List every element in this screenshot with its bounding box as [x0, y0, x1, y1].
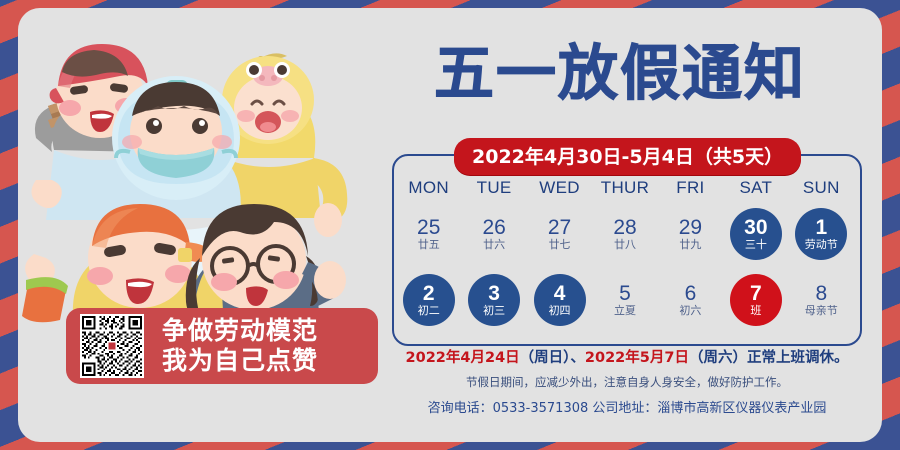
day-subtext: 母亲节 — [805, 305, 838, 317]
day-cell-holiday[interactable]: 30 三十 — [723, 204, 788, 264]
adjust-date-1: 2022年4月24日 — [406, 350, 520, 366]
day-cell-holiday[interactable]: 1 劳动节 — [789, 204, 854, 264]
day-subtext: 初二 — [418, 305, 440, 317]
adjust-date-2: 2022年5月7日 — [585, 350, 689, 366]
day-cell-workday[interactable]: 7 班 — [723, 270, 788, 330]
calendar-grid: MON TUE WED THUR FRI SAT SUN 25 廿五 26 廿六… — [396, 178, 854, 330]
day-subtext: 立夏 — [614, 305, 636, 317]
day-subtext: 廿七 — [549, 239, 571, 251]
contact-note: 咨询电话：0533-3571308 公司地址：淄博市高新区仪器仪表产业园 — [392, 397, 862, 416]
day-number: 8 — [815, 283, 827, 305]
day-subtext: 劳动节 — [805, 239, 838, 251]
page-title: 五一放假通知 — [370, 44, 870, 104]
day-number: 4 — [554, 283, 566, 305]
weekday-mon: MON — [396, 178, 461, 198]
day-cell[interactable]: 5 立夏 — [592, 270, 657, 330]
weekday-thur: THUR — [592, 178, 657, 198]
adjust-note-tail: （周六）正常上班调休。 — [689, 350, 849, 366]
day-cell[interactable]: 27 廿七 — [527, 204, 592, 264]
day-cell-holiday[interactable]: 2 初二 — [396, 270, 461, 330]
day-cell[interactable]: 26 廿六 — [461, 204, 526, 264]
weekday-sat: SAT — [723, 178, 788, 198]
day-number: 30 — [744, 217, 767, 239]
day-number: 3 — [488, 283, 500, 305]
day-cell[interactable]: 6 初六 — [658, 270, 723, 330]
poster-root: 五一放假通知 2022年4月30日-5月4日（共5天） MON TUE WED … — [0, 0, 900, 450]
slogan-line-2: 我为自己点赞 — [162, 346, 318, 377]
weekday-tue: TUE — [461, 178, 526, 198]
day-number: 29 — [679, 217, 702, 239]
day-subtext: 初六 — [679, 305, 701, 317]
day-number: 6 — [685, 283, 697, 305]
poster-card: 五一放假通知 2022年4月30日-5月4日（共5天） MON TUE WED … — [18, 8, 882, 442]
slogan-text: 争做劳动模范 我为自己点赞 — [162, 316, 318, 377]
day-subtext: 初三 — [483, 305, 505, 317]
day-subtext: 廿八 — [614, 239, 636, 251]
day-subtext: 三十 — [745, 239, 767, 251]
slogan-line-1: 争做劳动模范 — [162, 316, 318, 347]
adjust-workday-note: 2022年4月24日（周日）、2022年5月7日（周六）正常上班调休。 — [392, 346, 862, 367]
day-number: 28 — [613, 217, 636, 239]
day-number: 7 — [750, 283, 762, 305]
day-number: 1 — [815, 217, 827, 239]
day-cell[interactable]: 25 廿五 — [396, 204, 461, 264]
day-cell[interactable]: 29 廿九 — [658, 204, 723, 264]
slogan-banner: 争做劳动模范 我为自己点赞 — [66, 308, 378, 384]
day-cell-holiday[interactable]: 4 初四 — [527, 270, 592, 330]
day-cell[interactable]: 28 廿八 — [592, 204, 657, 264]
day-cell[interactable]: 8 母亲节 — [789, 270, 854, 330]
day-number: 2 — [423, 283, 435, 305]
day-number: 26 — [482, 217, 505, 239]
day-number: 27 — [548, 217, 571, 239]
day-subtext: 廿九 — [679, 239, 701, 251]
weekday-fri: FRI — [658, 178, 723, 198]
qr-code-icon[interactable] — [80, 314, 144, 378]
weekday-wed: WED — [527, 178, 592, 198]
day-subtext: 班 — [750, 305, 761, 317]
holiday-range-badge: 2022年4月30日-5月4日（共5天） — [454, 138, 801, 175]
notes-block: 2022年4月24日（周日）、2022年5月7日（周六）正常上班调休。 节假日期… — [392, 346, 862, 416]
day-subtext: 初四 — [549, 305, 571, 317]
safety-note: 节假日期间，应减少外出，注意自身人身安全，做好防护工作。 — [392, 374, 862, 390]
workers-illustration — [18, 8, 378, 328]
day-cell-holiday[interactable]: 3 初三 — [461, 270, 526, 330]
day-subtext: 廿六 — [483, 239, 505, 251]
adjust-note-mid: （周日）、 — [520, 350, 585, 366]
day-number: 25 — [417, 217, 440, 239]
day-number: 5 — [619, 283, 631, 305]
day-subtext: 廿五 — [418, 239, 440, 251]
weekday-sun: SUN — [789, 178, 854, 198]
